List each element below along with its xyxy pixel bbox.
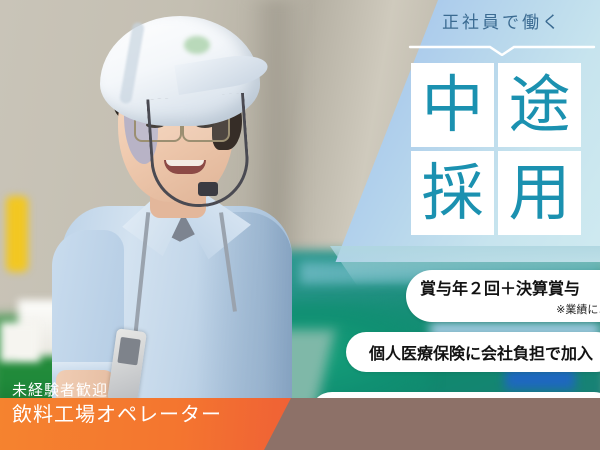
- headline-char-3: 採: [411, 151, 494, 235]
- footer-line-1: 未経験者歓迎: [12, 380, 312, 400]
- headline-char-2: 途: [498, 63, 581, 147]
- headline-character-grid: 中 途 採 用: [411, 63, 581, 239]
- benefit-pill-insurance-label: 個人医療保険に会社負担で加入: [369, 340, 593, 364]
- benefit-pill-insurance: 個人医療保険に会社負担で加入: [346, 332, 600, 372]
- footer-text-group: 未経験者歓迎 飲料工場オペレーター: [12, 380, 312, 428]
- headline-char-4: 用: [498, 151, 581, 235]
- footer-line-2: 飲料工場オペレーター: [12, 400, 312, 428]
- benefit-pill-bonus: 賞与年２回＋決算賞与 ※業績による: [406, 270, 600, 322]
- kicker-text: 正社員で働く: [414, 8, 590, 33]
- benefit-pill-bonus-note: ※業績による: [420, 301, 600, 317]
- notched-underline-icon: [408, 43, 596, 55]
- helmet-sticker: [184, 36, 210, 54]
- recruitment-banner: 正社員で働く 中 途 採 用 賞与年２回＋決算賞与 ※業績による 個人医療保険に…: [0, 0, 600, 450]
- headline-char-1: 中: [411, 63, 494, 147]
- benefit-pill-bonus-label: 賞与年２回＋決算賞与: [420, 275, 600, 299]
- helmet-chinstrap-buckle: [198, 182, 218, 196]
